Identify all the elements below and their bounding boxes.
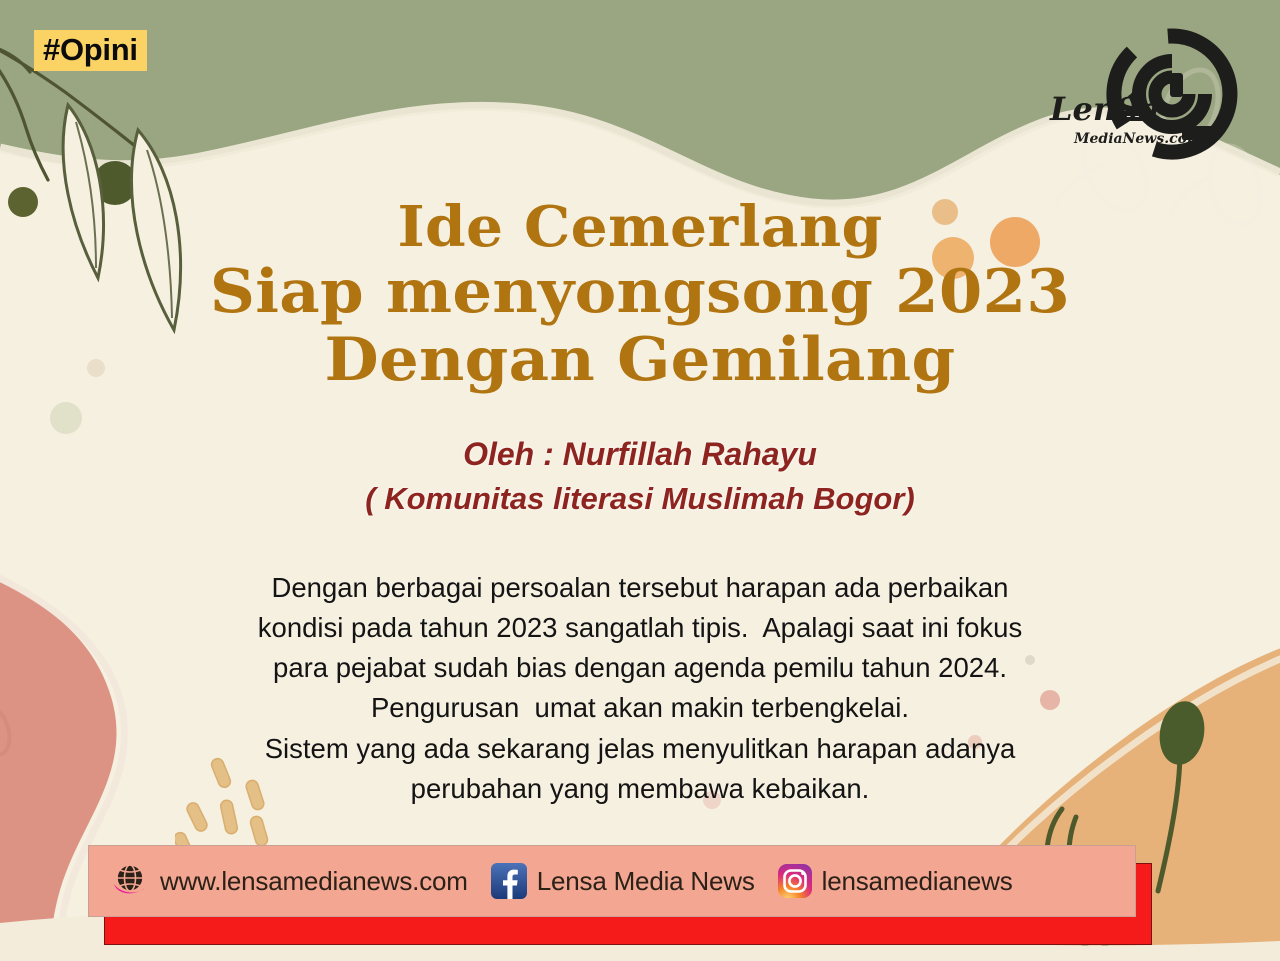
body-line: Dengan berbagai persoalan tersebut harap…: [150, 568, 1130, 608]
category-tag[interactable]: #Opini: [34, 30, 147, 71]
headline-line-2: Siap menyongsong 2023: [0, 259, 1280, 327]
footer: www.lensamedianews.com Lensa Media News: [88, 845, 1148, 945]
body-line: Sistem yang ada sekarang jelas menyulitk…: [150, 729, 1130, 769]
headline-line-3: Dengan Gemilang: [0, 327, 1280, 395]
logo-wordmark: LenSa: [1049, 90, 1160, 128]
website-url: www.lensamedianews.com: [160, 866, 468, 897]
body-line: Pengurusan umat akan makin terbengkelai.: [150, 688, 1130, 728]
lensa-media-news-logo: LenSa MediaNews.com: [1042, 28, 1252, 168]
footer-instagram[interactable]: lensamedianews: [777, 863, 1013, 899]
footer-facebook[interactable]: Lensa Media News: [490, 862, 755, 900]
body-line: perubahan yang membawa kebaikan.: [150, 769, 1130, 809]
byline: Oleh : Nurfillah Rahayu ( Komunitas lite…: [0, 432, 1280, 521]
facebook-icon: [490, 862, 528, 900]
body-line: para pejabat sudah bias dengan agenda pe…: [150, 648, 1130, 688]
logo-domain: MediaNews.com: [1073, 131, 1202, 147]
instagram-handle: lensamedianews: [822, 866, 1013, 897]
opinion-poster: LenSa MediaNews.com #Opini Ide Cemerlang…: [0, 0, 1280, 961]
footer-website[interactable]: www.lensamedianews.com: [111, 861, 468, 901]
article-excerpt: Dengan berbagai persoalan tersebut harap…: [150, 568, 1130, 809]
instagram-icon: [777, 863, 813, 899]
body-line: kondisi pada tahun 2023 sangatlah tipis.…: [150, 608, 1130, 648]
page-title: Ide Cemerlang Siap menyongsong 2023 Deng…: [0, 196, 1280, 395]
facebook-name: Lensa Media News: [537, 866, 755, 897]
byline-author: Oleh : Nurfillah Rahayu: [0, 432, 1280, 477]
globe-icon: [111, 861, 151, 901]
byline-affiliation: ( Komunitas literasi Muslimah Bogor): [0, 477, 1280, 521]
footer-bar: www.lensamedianews.com Lensa Media News: [88, 845, 1136, 917]
headline-line-1: Ide Cemerlang: [0, 196, 1280, 259]
